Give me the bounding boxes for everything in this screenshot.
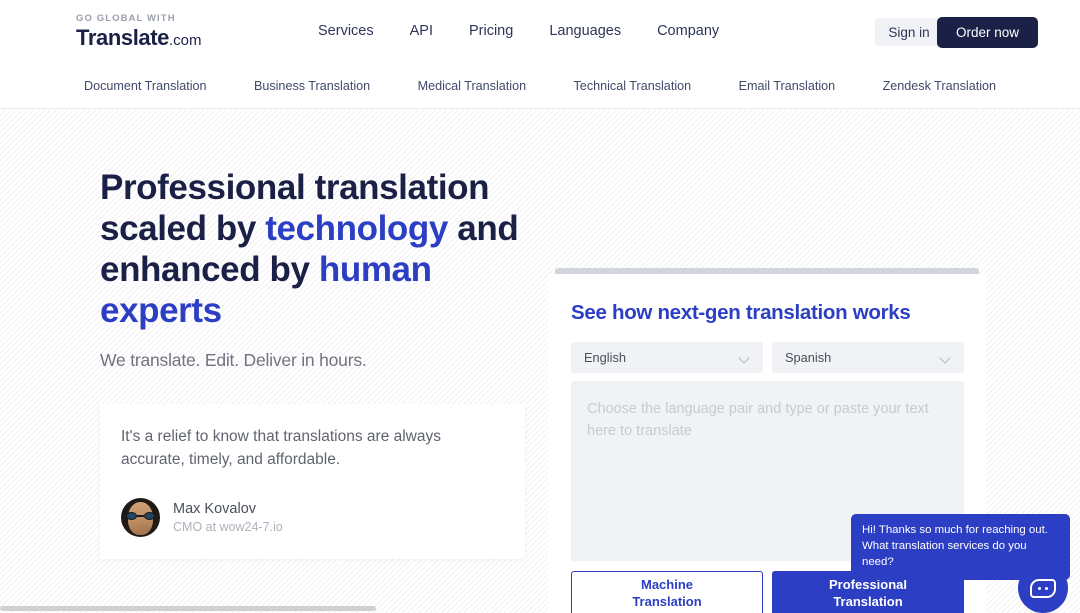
- subnav-item-zendesk-translation[interactable]: Zendesk Translation: [883, 79, 996, 93]
- sign-in-button[interactable]: Sign in: [875, 18, 943, 46]
- nav-item-api[interactable]: API: [410, 23, 433, 39]
- testimonial-author-role: CMO at wow24-7.io: [173, 520, 283, 534]
- chat-message-line-1: Hi! Thanks so much for reaching out.: [862, 522, 1059, 538]
- nav-item-services[interactable]: Services: [318, 23, 374, 39]
- nav-item-company[interactable]: Company: [657, 23, 719, 39]
- nav-item-languages[interactable]: Languages: [549, 23, 621, 39]
- secondary-navigation: Document Translation Business Translatio…: [0, 64, 1080, 109]
- translation-text-placeholder: Choose the language pair and type or pas…: [587, 399, 949, 443]
- nav-item-pricing[interactable]: Pricing: [469, 23, 513, 39]
- testimonial-author: Max Kovalov CMO at wow24-7.io: [121, 498, 283, 537]
- headline-highlight-technology: technology: [265, 209, 448, 248]
- avatar: [121, 498, 160, 537]
- logo-wordmark: Translate.com: [76, 27, 202, 49]
- chevron-down-icon: [740, 354, 749, 363]
- testimonial-card: It's a relief to know that translations …: [100, 404, 525, 559]
- testimonial-author-name: Max Kovalov: [173, 501, 283, 517]
- widget-title: See how next-gen translation works: [571, 301, 911, 325]
- subnav-item-email-translation[interactable]: Email Translation: [739, 79, 836, 93]
- page-root: GO GLOBAL WITH Translate.com Services AP…: [0, 0, 1080, 613]
- testimonial-quote: It's a relief to know that translations …: [121, 426, 507, 471]
- logo-suffix: .com: [169, 32, 202, 49]
- chat-bot-eye-right: [1045, 587, 1048, 590]
- subnav-item-medical-translation[interactable]: Medical Translation: [418, 79, 527, 93]
- hero-headline: Professional translation scaled by techn…: [100, 168, 540, 332]
- chevron-down-icon: [941, 354, 950, 363]
- subnav-item-technical-translation[interactable]: Technical Translation: [574, 79, 692, 93]
- chat-bot-eye-left: [1038, 587, 1041, 590]
- main-navigation: Services API Pricing Languages Company: [318, 23, 719, 39]
- testimonial-author-info: Max Kovalov CMO at wow24-7.io: [173, 501, 283, 534]
- subnav-item-document-translation[interactable]: Document Translation: [84, 79, 207, 93]
- logo-tagline: GO GLOBAL WITH: [76, 14, 202, 24]
- chat-bot-icon: [1030, 579, 1056, 598]
- sunglasses-lens-left: [126, 512, 137, 520]
- language-selector-row: English Spanish: [571, 342, 964, 373]
- hero-subheadline: We translate. Edit. Deliver in hours.: [100, 350, 367, 371]
- target-language-select[interactable]: Spanish: [772, 342, 964, 373]
- logo-name: Translate: [76, 25, 169, 50]
- sunglasses-bridge: [137, 515, 144, 517]
- source-language-value: English: [584, 350, 626, 365]
- target-language-value: Spanish: [785, 350, 831, 365]
- subnav-item-business-translation[interactable]: Business Translation: [254, 79, 370, 93]
- site-header: GO GLOBAL WITH Translate.com Services AP…: [0, 0, 1080, 64]
- source-language-select[interactable]: English: [571, 342, 763, 373]
- order-now-button[interactable]: Order now: [937, 17, 1038, 48]
- sunglasses-icon: [126, 512, 155, 520]
- horizontal-scrollbar[interactable]: [0, 604, 1080, 613]
- horizontal-scrollbar-thumb[interactable]: [0, 606, 376, 611]
- site-logo[interactable]: GO GLOBAL WITH Translate.com: [76, 14, 202, 49]
- sunglasses-lens-right: [144, 512, 155, 520]
- widget-top-bar: [555, 268, 979, 274]
